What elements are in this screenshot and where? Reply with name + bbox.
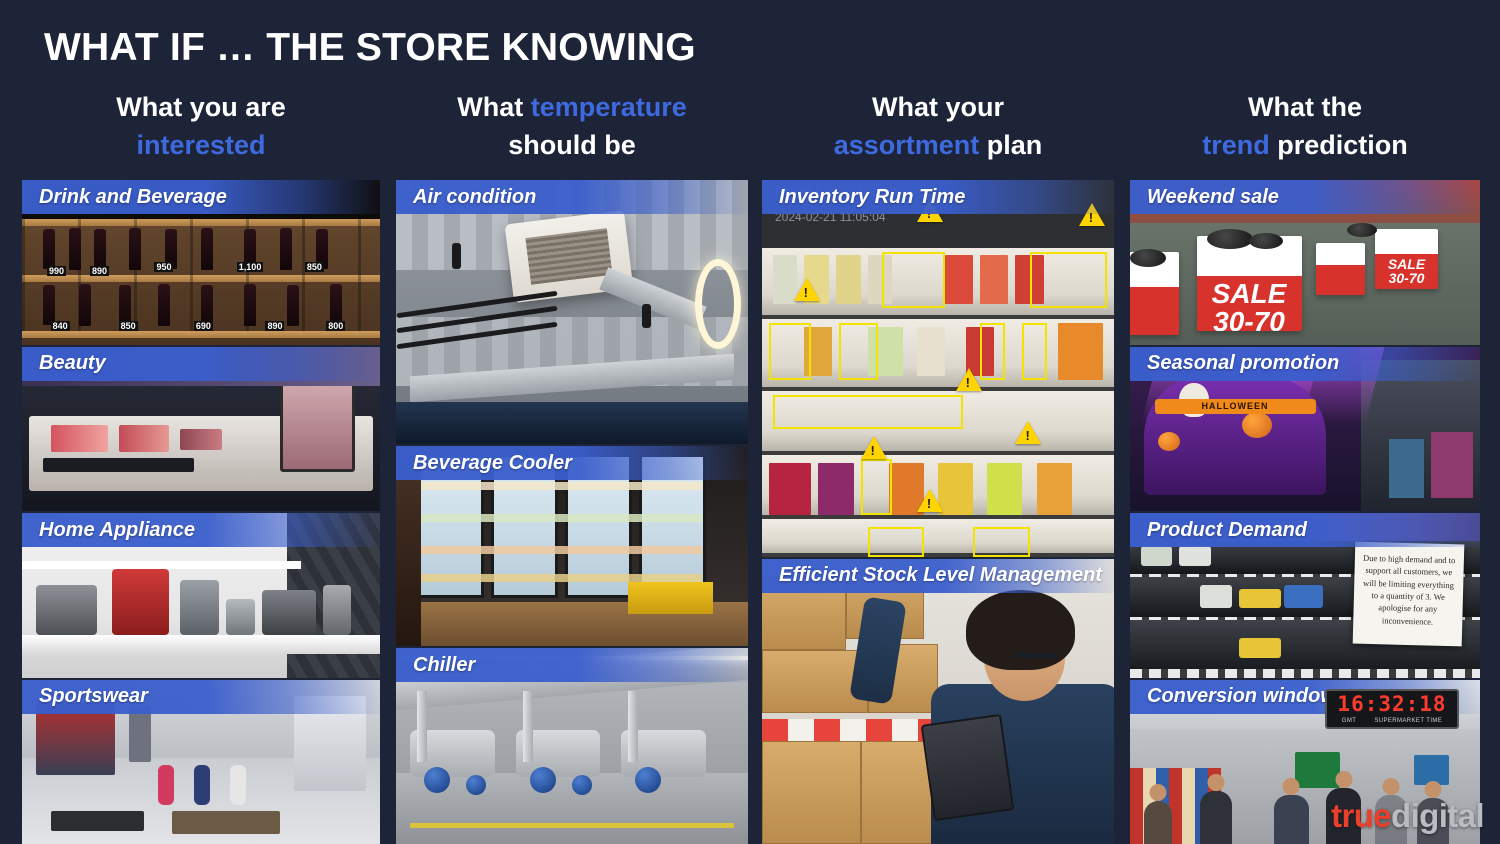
column-temperature: What temperature should be: [396, 0, 748, 844]
heading-line2-highlight: interested: [136, 130, 265, 160]
label-text: Weekend sale: [1130, 186, 1279, 209]
panel-label-seasonal-promotion: Seasonal promotion: [1130, 347, 1480, 381]
column-heading-4: What the trend prediction: [1130, 88, 1480, 165]
heading-line2-post: plan: [979, 130, 1042, 160]
panel-list-3: Pakket Bypass Nonthburi 2024-02-21 11:05…: [762, 180, 1114, 844]
brand-logo: truedigital: [1331, 799, 1484, 832]
panel-beverage-cooler[interactable]: Beverage Cooler: [396, 446, 748, 646]
supermarket-clock: 16:32:18 GMT SUPERMARKET TIME: [1325, 689, 1459, 729]
label-text: Drink and Beverage: [22, 186, 227, 209]
scene-cctv-shelf-analytics: [762, 180, 1114, 557]
panel-label-beauty: Beauty: [22, 347, 380, 381]
scene-ceiling-ac-unit: [396, 180, 748, 444]
panel-label-product-demand: Product Demand: [1130, 513, 1480, 547]
column-trend: What the trend prediction SALE 30-70: [1130, 0, 1480, 844]
halloween-banner: HALLOWEEN: [1155, 399, 1316, 414]
panel-home-appliance[interactable]: Home Appliance: [22, 513, 380, 678]
panel-label-drink-and-beverage: Drink and Beverage: [22, 180, 380, 214]
panel-chiller[interactable]: Chiller: [396, 648, 748, 844]
panel-label-air-condition: Air condition: [396, 180, 748, 214]
label-text: Air condition: [396, 186, 536, 209]
label-text: Conversion window: [1130, 685, 1336, 708]
panel-weekend-sale[interactable]: SALE 30-70 SALE30-70: [1130, 180, 1480, 345]
demand-sign-text: Due to high demand and to support all cu…: [1361, 551, 1455, 627]
label-text: Efficient Stock Level Management: [762, 564, 1102, 587]
heading-line1-pre: What the: [1248, 92, 1362, 122]
panel-efficient-stock-level-management[interactable]: Efficient Stock Level Management: [762, 559, 1114, 844]
column-heading-1: What you are interested: [22, 88, 380, 165]
panel-drink-and-beverage[interactable]: 990 890 950 1,100 850 840 850 690 890 80…: [22, 180, 380, 345]
heading-line1-pre: What you are: [116, 92, 286, 122]
panel-label-efficient-stock-level-management: Efficient Stock Level Management: [762, 559, 1114, 593]
panel-inventory-run-time[interactable]: Pakket Bypass Nonthburi 2024-02-21 11:05…: [762, 180, 1114, 557]
logo-digital: digital: [1391, 797, 1484, 834]
panel-list-2: Air condition: [396, 180, 748, 844]
clock-time: 16:32:18: [1337, 694, 1446, 715]
panel-list-1: 990 890 950 1,100 850 840 850 690 890 80…: [22, 180, 380, 844]
column-interested: What you are interested: [22, 0, 380, 844]
column-heading-3: What your assortment plan: [762, 88, 1114, 165]
heading-line2-highlight: assortment: [834, 130, 980, 160]
panel-seasonal-promotion[interactable]: HALLOWEEN Seasonal promotion: [1130, 347, 1480, 512]
label-text: Chiller: [396, 654, 475, 677]
panel-label-sportswear: Sportswear: [22, 680, 380, 714]
clock-zone: GMT: [1342, 718, 1357, 724]
sale-tag: SALE 30-70: [1197, 280, 1302, 332]
label-text: Beverage Cooler: [396, 452, 572, 475]
slide-root: WHAT IF … THE STORE KNOWING What you are…: [0, 0, 1500, 844]
label-text: Home Appliance: [22, 519, 195, 542]
panel-label-home-appliance: Home Appliance: [22, 513, 380, 547]
panel-beauty[interactable]: Beauty: [22, 347, 380, 512]
panel-sportswear[interactable]: Sportswear: [22, 680, 380, 844]
panel-label-beverage-cooler: Beverage Cooler: [396, 446, 748, 480]
scene-warehouse-worker-tablet: [762, 559, 1114, 844]
heading-line1-highlight: temperature: [531, 92, 687, 122]
label-text: Beauty: [22, 352, 106, 375]
heading-line1-pre: What your: [872, 92, 1004, 122]
heading-line2-post: should be: [508, 130, 636, 160]
heading-line1-pre: What: [457, 92, 531, 122]
panel-product-demand[interactable]: Due to high demand and to support all cu…: [1130, 513, 1480, 678]
columns-container: What you are interested: [0, 0, 1500, 844]
label-text: Product Demand: [1130, 519, 1307, 542]
label-text: Seasonal promotion: [1130, 352, 1339, 375]
label-text: Sportswear: [22, 685, 148, 708]
column-heading-2: What temperature should be: [396, 88, 748, 165]
logo-true: true: [1331, 797, 1391, 834]
label-text: Inventory Run Time: [762, 186, 965, 209]
heading-line2-highlight: trend: [1202, 130, 1270, 160]
clock-caption: SUPERMARKET TIME: [1374, 718, 1442, 724]
panel-label-inventory-run-time: Inventory Run Time: [762, 180, 1114, 214]
panel-list-4: SALE 30-70 SALE30-70: [1130, 180, 1480, 844]
column-assortment: What your assortment plan: [762, 0, 1114, 844]
panel-label-chiller: Chiller: [396, 648, 748, 682]
panel-label-weekend-sale: Weekend sale: [1130, 180, 1480, 214]
heading-line2-post: prediction: [1270, 130, 1408, 160]
panel-air-condition[interactable]: Air condition: [396, 180, 748, 444]
